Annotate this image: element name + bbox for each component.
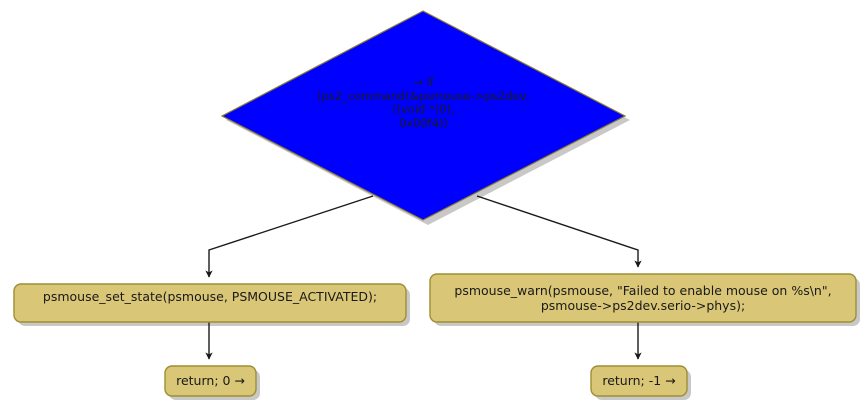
return-zero-node-box[interactable] (165, 366, 256, 396)
decision-node-diamond[interactable] (222, 11, 625, 220)
return-neg-one-node-box[interactable] (591, 366, 687, 396)
edge-decision-to-warn (477, 196, 638, 267)
warn-node-box[interactable] (430, 274, 856, 322)
flowchart-canvas (0, 0, 868, 415)
edge-decision-to-activate (209, 196, 373, 277)
activate-node-box[interactable] (14, 284, 406, 322)
